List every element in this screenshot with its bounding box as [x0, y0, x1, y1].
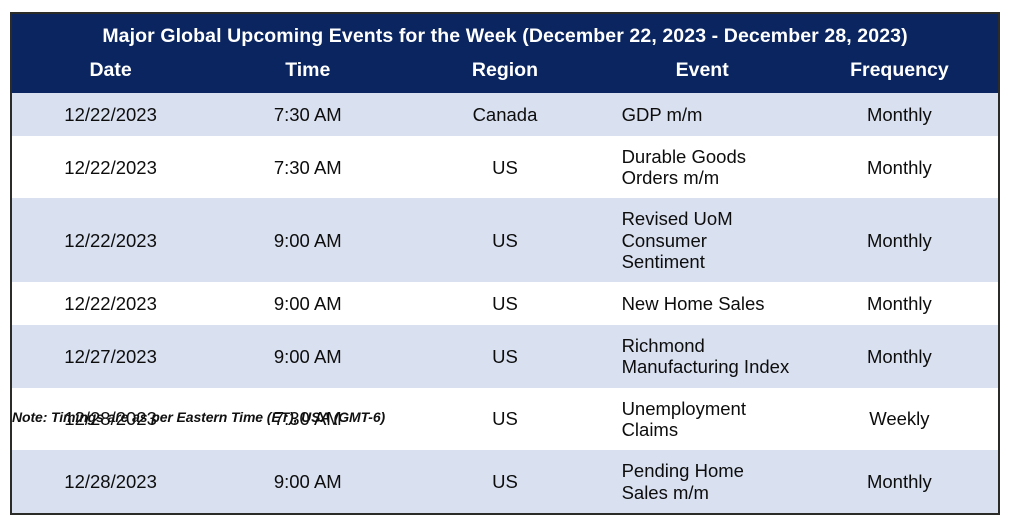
- events-table: Major Global Upcoming Events for the Wee…: [12, 14, 998, 513]
- cell-region: US: [406, 282, 603, 325]
- cell-frequency: Monthly: [801, 325, 998, 388]
- table-row: 12/22/2023 9:00 AM US New Home Sales Mon…: [12, 282, 998, 325]
- table-title: Major Global Upcoming Events for the Wee…: [12, 14, 998, 56]
- cell-region: Canada: [406, 93, 603, 136]
- cell-date: 12/28/2023: [12, 450, 209, 513]
- cell-event: GDP m/m: [604, 93, 801, 136]
- cell-event: Richmond Manufacturing Index: [604, 325, 801, 388]
- cell-region: US: [406, 450, 603, 513]
- cell-date: 12/22/2023: [12, 198, 209, 282]
- cell-event: Pending Home Sales m/m: [604, 450, 801, 513]
- cell-region: US: [406, 136, 603, 199]
- table-row: 12/22/2023 7:30 AM Canada GDP m/m Monthl…: [12, 93, 998, 136]
- cell-frequency: Monthly: [801, 282, 998, 325]
- cell-time: 9:00 AM: [209, 282, 406, 325]
- table-title-row: Major Global Upcoming Events for the Wee…: [12, 14, 998, 56]
- cell-time: 9:00 AM: [209, 450, 406, 513]
- column-header-frequency[interactable]: Frequency: [801, 56, 998, 92]
- column-header-region[interactable]: Region: [406, 56, 603, 92]
- table-footnote: Note: Timings are as per Eastern Time (E…: [12, 409, 385, 425]
- cell-time: 7:30 AM: [209, 93, 406, 136]
- table-row: 12/22/2023 7:30 AM US Durable Goods Orde…: [12, 136, 998, 199]
- table-row: 12/22/2023 9:00 AM US Revised UoM Consum…: [12, 198, 998, 282]
- table-row: 12/27/2023 9:00 AM US Richmond Manufactu…: [12, 325, 998, 388]
- cell-frequency: Monthly: [801, 93, 998, 136]
- events-table-body: Major Global Upcoming Events for the Wee…: [12, 14, 998, 513]
- cell-date: 12/22/2023: [12, 282, 209, 325]
- cell-date: 12/22/2023: [12, 136, 209, 199]
- cell-event: Durable Goods Orders m/m: [604, 136, 801, 199]
- events-table-container: Major Global Upcoming Events for the Wee…: [10, 12, 1000, 515]
- cell-frequency: Monthly: [801, 136, 998, 199]
- cell-frequency: Monthly: [801, 450, 998, 513]
- cell-frequency: Monthly: [801, 198, 998, 282]
- cell-region: US: [406, 325, 603, 388]
- cell-time: 7:30 AM: [209, 136, 406, 199]
- events-table-page: Major Global Upcoming Events for the Wee…: [0, 0, 1011, 441]
- table-header-row: Date Time Region Event Frequency: [12, 56, 998, 92]
- cell-date: 12/22/2023: [12, 93, 209, 136]
- column-header-time[interactable]: Time: [209, 56, 406, 92]
- cell-time: 9:00 AM: [209, 325, 406, 388]
- cell-event: New Home Sales: [604, 282, 801, 325]
- column-header-date[interactable]: Date: [12, 56, 209, 92]
- table-row: 12/28/2023 9:00 AM US Pending Home Sales…: [12, 450, 998, 513]
- column-header-event[interactable]: Event: [604, 56, 801, 92]
- cell-date: 12/27/2023: [12, 325, 209, 388]
- cell-time: 9:00 AM: [209, 198, 406, 282]
- cell-event: Revised UoM Consumer Sentiment: [604, 198, 801, 282]
- cell-region: US: [406, 198, 603, 282]
